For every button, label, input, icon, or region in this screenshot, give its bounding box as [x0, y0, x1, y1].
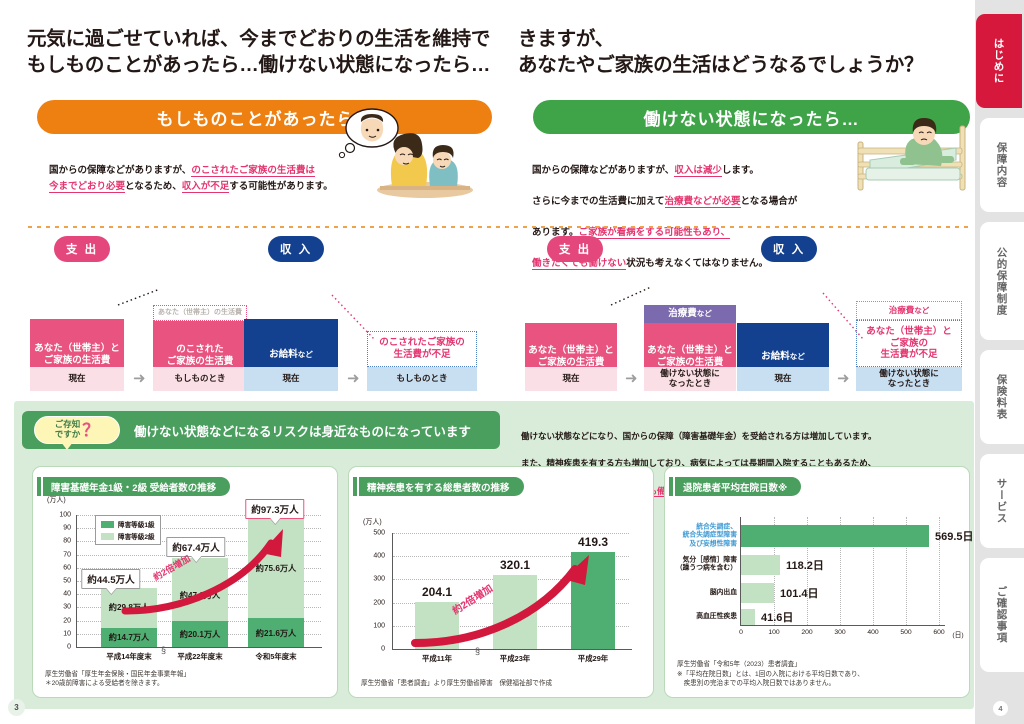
chart1-value-grade1: 約21.6万人 [256, 627, 297, 639]
sidebar-tab-label: 公的保障制度 [995, 247, 1010, 316]
legend-swatch-grade2 [101, 533, 114, 540]
sidebar-tab-hokenryohyo[interactable]: 保険料表 [980, 350, 1024, 444]
chart2-ytick: 0 [363, 646, 385, 653]
chart3-bar [741, 555, 780, 575]
chart1-ytick: 60 [49, 564, 71, 571]
chart1-axis-break-icon: § [161, 645, 166, 655]
chart3-footnote: 厚生労働省「令和5年（2023）患者調査」 ※「平均在院日数」とは、1回の入院に… [677, 660, 959, 689]
chart3-category: 統合失調症、 統合失調症型障害 及び妄想性障害 [669, 524, 737, 549]
income-columns-left: お給料など 現在 ➜ のこされたご家族の 生活費が不足 国からの保障など もしも… [244, 279, 500, 391]
column-expense-current-right: あなた（世帯主）と ご家族の生活費 現在 [525, 305, 617, 391]
dotted-connector-expense-right [609, 285, 655, 307]
chart1-ytick: 80 [49, 538, 71, 545]
sidebar-tab-gokakuninjiko[interactable]: ご確認事項 [980, 558, 1024, 672]
gridline [393, 533, 629, 534]
chart2-title: 精神疾患を有する総患者数の推移 [359, 477, 524, 496]
question-mark-icon: ？ [82, 422, 99, 439]
column-income-current-right: お給料など 現在 [737, 305, 829, 391]
chart1-xtick: 令和5年度末 [255, 651, 296, 662]
chart2-ytick: 300 [363, 576, 385, 583]
chart1-y-axis [76, 515, 77, 648]
sidebar-tab-label: 保障内容 [995, 142, 1010, 188]
chart1-footnote: 厚生労働省「厚生年金保険・国民年金事業年報」 ＊20歳前障害による受給者を除きま… [45, 670, 327, 689]
page-number-left: 3 [8, 699, 25, 716]
chart1-ytick: 10 [49, 630, 71, 637]
chart1-value-grade1: 約14.7万人 [109, 631, 150, 643]
chart2-ytick: 500 [363, 530, 385, 537]
column-expense-current-left: あなた（世帯主）と ご家族の生活費 現在 [30, 305, 124, 391]
chart1-value-grade1: 約20.1万人 [180, 628, 221, 640]
chart-card-2: 精神疾患を有する総患者数の推移 (万人) 500 400 300 200 100… [348, 466, 654, 698]
chart1-ytick: 90 [49, 525, 71, 532]
sidebar-tab-hajimeni[interactable]: はじめに [976, 14, 1022, 108]
column-expense-future-right: 治療費など あなた（世帯主）と ご家族の生活費 働けない状態に なったとき [644, 305, 736, 391]
dotted-separator [28, 226, 968, 228]
chart1-y-unit: (万人) [47, 495, 66, 505]
segment-shortfall: あなた（世帯主）と ご家族の 生活費が不足 [856, 320, 962, 367]
sidebar-tab-label: サービス [995, 478, 1010, 524]
column-label-current: 現在 [737, 367, 829, 391]
gozonchi-banner: ご存知 ですか ？ 働けない状態などになるリスクは身近なものになっています [22, 411, 500, 449]
pill-expense-right: 支 出 [547, 236, 603, 262]
chart3-xtick: 0 [739, 629, 743, 636]
chart3-value: 118.2日 [786, 557, 824, 573]
chart3-xtick: 400 [867, 629, 878, 636]
chart2-x-axis [392, 649, 632, 650]
income-columns-right: お給料など 現在 ➜ 治療費など あなた（世帯主）と ご家族の 生活費が不足 国… [737, 279, 975, 391]
legend-label-grade1: 障害等級1級 [118, 519, 155, 529]
chart3-xtick: 100 [768, 629, 779, 636]
arrow-icon-income-right: ➜ [837, 369, 850, 387]
chart3-category: 高血圧性疾患 [669, 613, 737, 621]
chart3-xtick: 300 [834, 629, 845, 636]
sidebar-tab-kotekihosho[interactable]: 公的保障制度 [980, 222, 1024, 340]
chart2-y-unit: (万人) [363, 517, 382, 527]
chart2-footnote: 厚生労働省「患者調査」より厚生労働省障害 保健福祉部で作成 [361, 679, 643, 689]
chart1-x-axis [76, 647, 322, 648]
expense-columns-right: あなた（世帯主）と ご家族の生活費 現在 ➜ 治療費など あなた（世帯主）と ご… [525, 279, 725, 391]
column-income-current-left: お給料など 現在 [244, 305, 338, 391]
sidebar-tabs: はじめに 保障内容 公的保障制度 保険料表 サービス ご確認事項 4 [975, 0, 1024, 724]
chart2-value: 419.3 [578, 535, 608, 549]
chart1-ytick: 50 [49, 578, 71, 585]
legend-item: 障害等級2級 [101, 531, 155, 541]
column-label-moshimo: もしものとき [153, 367, 247, 391]
sidebar-tab-hoshonaiyo[interactable]: 保障内容 [980, 118, 1024, 212]
segment-ghost-treatment-cost: 治療費など [856, 301, 962, 320]
chart1-total-callout: 約97.3万人 [245, 499, 304, 519]
chart2-ytick: 200 [363, 599, 385, 606]
sidebar-tab-service[interactable]: サービス [980, 454, 1024, 548]
chart3-value: 569.5日 [935, 528, 974, 544]
chart-card-3: 退院患者平均在院日数※ 統合失調症、 統合失調症型障害 及び妄想性障害 569.… [664, 466, 970, 698]
chart1-ytick: 70 [49, 551, 71, 558]
column-label-hatarakenai: 働けない状態に なったとき [856, 367, 962, 391]
arrow-icon-income-left: ➜ [347, 369, 360, 387]
chart3-bar [741, 609, 755, 625]
chart1-legend: 障害等級1級 障害等級2級 [95, 515, 161, 545]
chart3-value: 101.4日 [780, 585, 819, 601]
arrow-icon-expense-left: ➜ [133, 369, 146, 387]
column-label-current: 現在 [244, 367, 338, 391]
chart-card-1: 障害基礎年金1級・2級 受給者数の推移 (万人) 100 90 80 70 60… [32, 466, 338, 698]
chart3-xtick: 200 [801, 629, 812, 636]
column-label-moshimo: もしものとき [367, 367, 477, 391]
column-label-current: 現在 [525, 367, 617, 391]
sidebar-tab-label: ご確認事項 [995, 586, 1010, 644]
banner-right-label: 働けない状態になったら… [644, 105, 860, 130]
chart3-category: 脳内出血 [669, 589, 737, 597]
chart2-xtick: 平成23年 [500, 653, 530, 664]
pill-expense-left: 支 出 [54, 236, 110, 262]
chart2-ytick: 100 [363, 622, 385, 629]
lead-text-left: 国からの保障などがありますが、のこされたご家族の生活費は今までどおり必要となるた… [49, 148, 369, 194]
segment-ghost-your-living-cost: あなた（世帯主）の生活費 [153, 305, 247, 321]
diagram-moshimo: 支 出 収 入 あなた（世帯主）と ご家族の生活費 現在 ➜ あなた（世帯主）の… [30, 236, 500, 391]
chart3-bar [741, 583, 774, 603]
chart2-axis-break-icon: § [475, 646, 480, 656]
chart2-y-axis [392, 533, 393, 650]
gozonchi-bubble-text: ご存知 ですか [55, 420, 81, 439]
page-number-right: 4 [993, 701, 1008, 716]
legend-label-grade2: 障害等級2級 [118, 531, 155, 541]
column-income-future-left: のこされたご家族の 生活費が不足 国からの保障など もしものとき [367, 305, 477, 391]
chart1-xtick: 平成14年度末 [106, 651, 151, 662]
arrow-icon-expense-right: ➜ [625, 369, 638, 387]
chart3-bar [741, 525, 929, 547]
segment-shortfall: のこされたご家族の 生活費が不足 [367, 331, 477, 367]
brochure-page: 元気に過ごせていれば、今までどおりの生活を維持で もしものことがあったら…働けな… [0, 0, 1024, 724]
chart3-x-axis [740, 625, 945, 626]
dotted-connector-expense-left [116, 287, 164, 307]
chart3-plot: 統合失調症、 統合失調症型障害 及び妄想性障害 569.5日 気分［感情］障害 … [665, 503, 971, 658]
sidebar-tab-label: はじめに [992, 38, 1007, 84]
chart1-xtick: 平成22年度末 [177, 651, 222, 662]
sidebar-tab-label: 保険料表 [995, 374, 1010, 420]
gozonchi-title: 働けない状態などになるリスクは身近なものになっています [134, 421, 471, 440]
chart1-ytick: 100 [49, 512, 71, 519]
pill-income-right: 収 入 [761, 236, 817, 262]
chart2-xtick: 平成29年 [578, 653, 608, 664]
chart3-xtick: 600 [933, 629, 944, 636]
chart3-title: 退院患者平均在院日数※ [675, 477, 801, 496]
chart2-xtick: 平成11年 [422, 653, 452, 664]
chart1-ytick: 40 [49, 591, 71, 598]
chart1-ytick: 30 [49, 604, 71, 611]
column-label-hatarakenai: 働けない状態に なったとき [644, 367, 736, 391]
chart3-xtick: 500 [900, 629, 911, 636]
chart3-value: 41.6日 [761, 609, 793, 625]
headline-right: きますが、 あなたやご家族の生活はどうなるでしょうか？ [518, 26, 988, 79]
chart2-plot: (万人) 500 400 300 200 100 0 204.1 320.1 4… [349, 503, 655, 665]
chart1-ytick: 0 [49, 644, 71, 651]
diagram-hatarakenai: 支 出 収 入 あなた（世帯主）と ご家族の生活費 現在 ➜ 治療費など あなた… [525, 236, 975, 391]
chart3-category: 気分［感情］障害 （躁うつ病を含む） [669, 557, 737, 574]
chart1-plot: (万人) 100 90 80 70 60 50 40 30 20 10 0 [33, 495, 339, 665]
headline-left: 元気に過ごせていれば、今までどおりの生活を維持で もしものことがあったら…働けな… [27, 26, 527, 79]
column-expense-future-left: あなた（世帯主）の生活費 のこされた ご家族の生活費 もしものとき [153, 305, 247, 391]
legend-swatch-grade1 [101, 521, 114, 528]
segment-treatment-cost: 治療費など [644, 305, 736, 323]
expense-columns-left: あなた（世帯主）と ご家族の生活費 現在 ➜ あなた（世帯主）の生活費 のこされ… [30, 279, 230, 391]
chart1-title: 障害基礎年金1級・2級 受給者数の推移 [43, 477, 230, 496]
pill-income-left: 収 入 [268, 236, 324, 262]
chart2-ytick: 400 [363, 553, 385, 560]
column-income-future-right: 治療費など あなた（世帯主）と ご家族の 生活費が不足 国からの保障など 働けな… [856, 305, 962, 391]
chart3-x-unit: (日) [952, 629, 963, 639]
legend-item: 障害等級1級 [101, 519, 155, 529]
chart1-ytick: 20 [49, 617, 71, 624]
chart2-growth-arrow [409, 555, 609, 649]
gozonchi-bubble: ご存知 ですか ？ [34, 416, 120, 444]
column-label-current: 現在 [30, 367, 124, 391]
